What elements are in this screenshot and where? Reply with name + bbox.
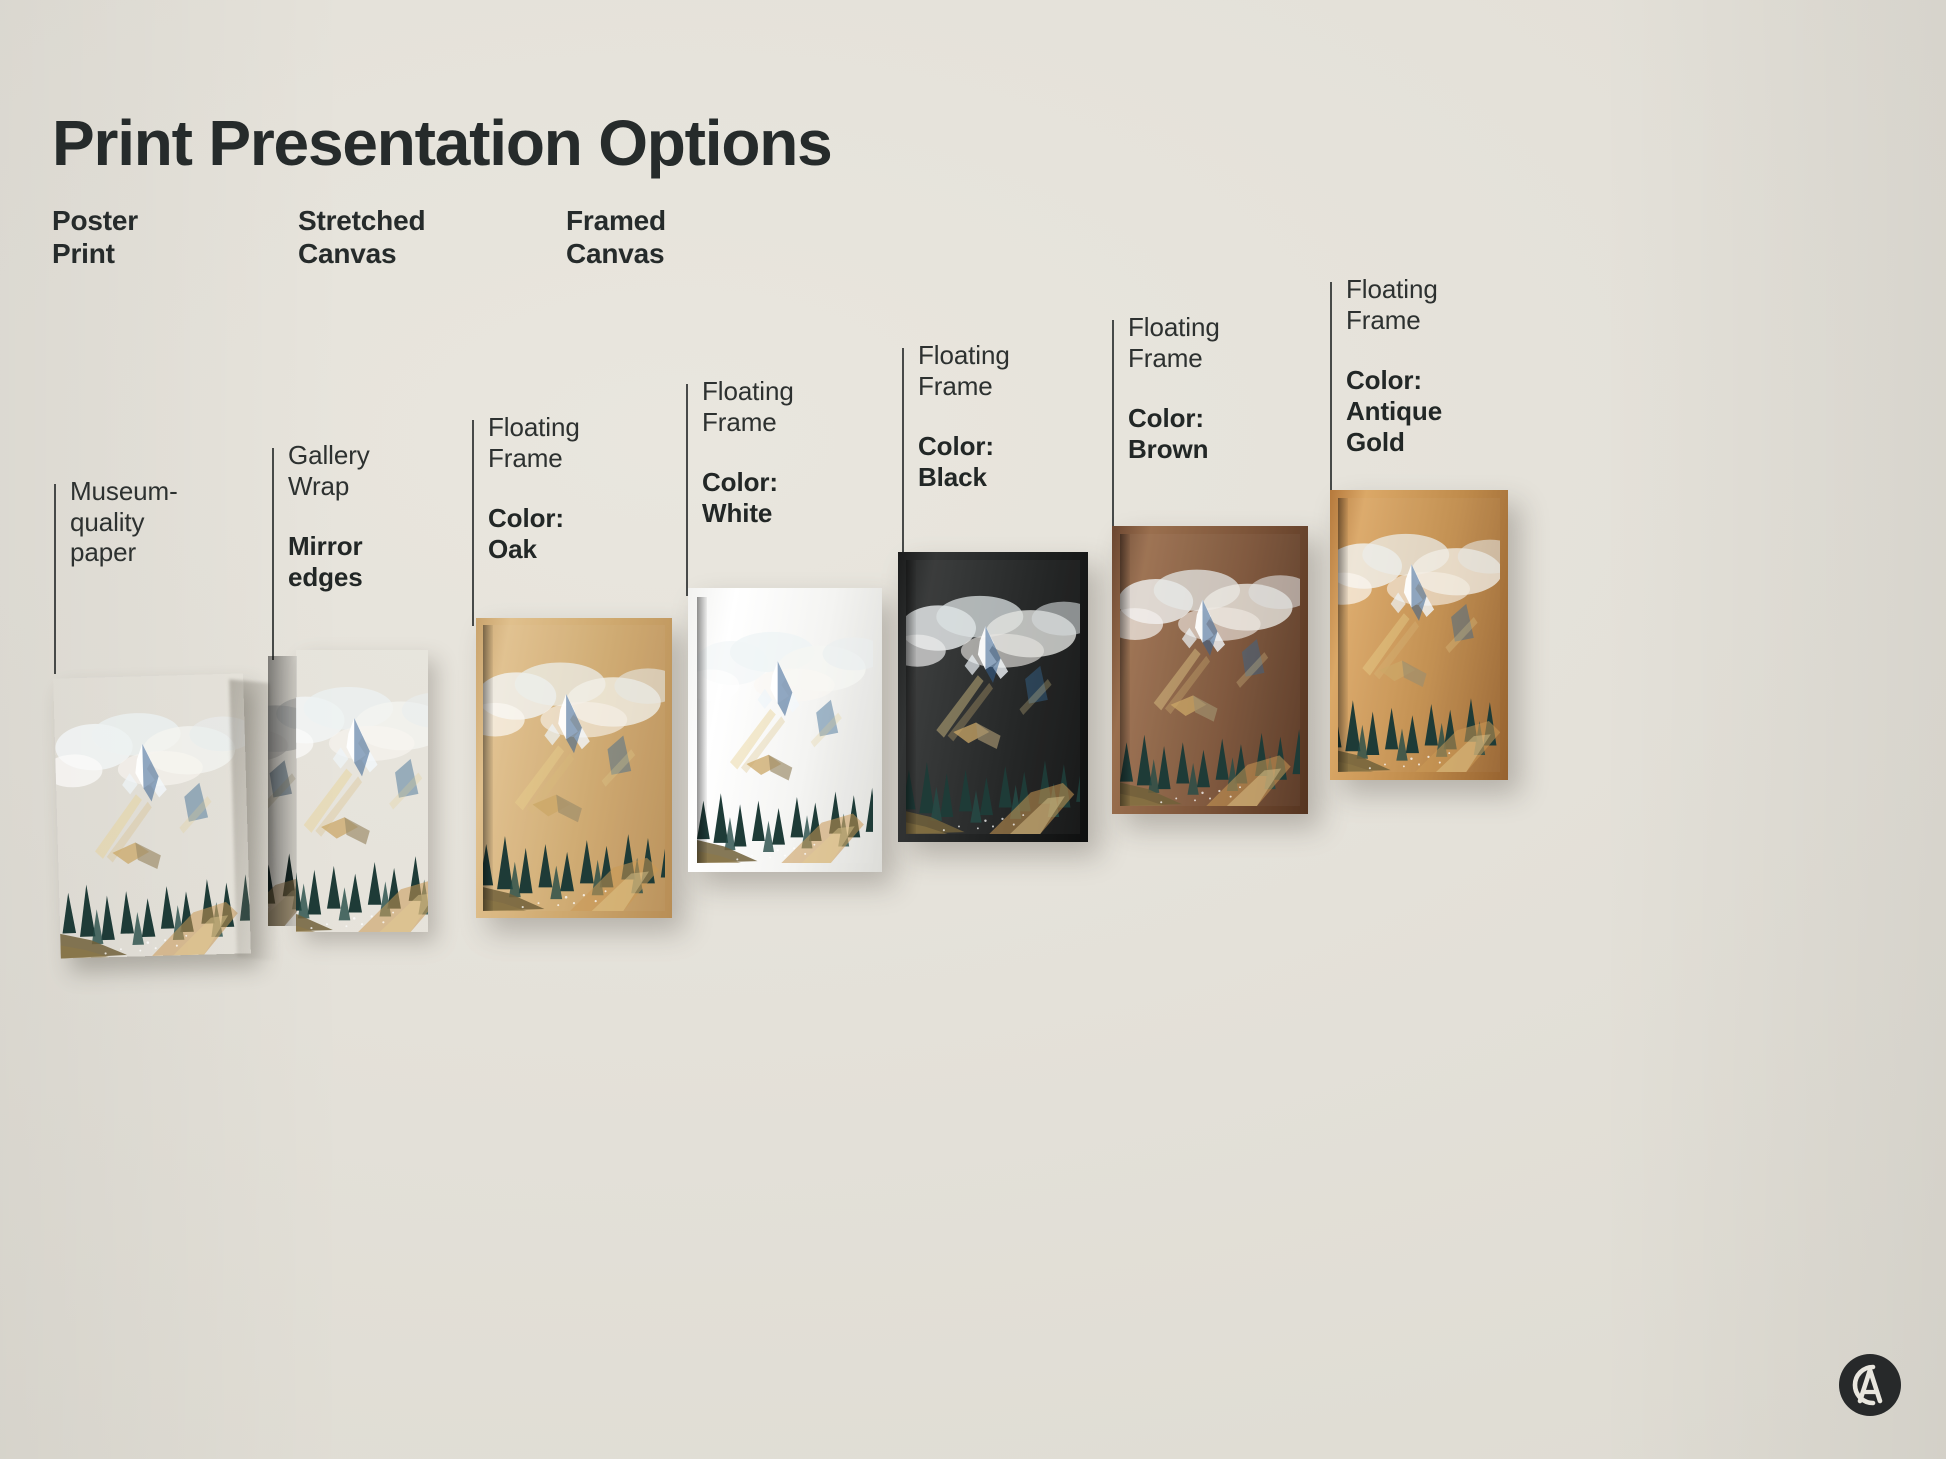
frame-depth-shadow bbox=[697, 597, 707, 863]
annotation-label: Museum-qualitypaper bbox=[70, 476, 270, 568]
page-title: Print Presentation Options bbox=[52, 106, 832, 180]
category-heading-framed-canvas: FramedCanvas bbox=[566, 205, 666, 271]
canvas-face bbox=[296, 650, 428, 932]
artwork-mountain-landscape bbox=[1338, 498, 1500, 772]
annotation-label: FloatingFrame bbox=[1346, 274, 1546, 335]
artwork-slot bbox=[483, 625, 665, 911]
frame-depth-shadow bbox=[906, 560, 916, 834]
artwork-slot bbox=[296, 650, 428, 932]
leader-line bbox=[902, 348, 904, 562]
artwork-slot bbox=[697, 597, 873, 863]
annotation-label: FloatingFrame bbox=[702, 376, 902, 437]
artwork-slot bbox=[1120, 534, 1300, 806]
annotation-detail: Color:Oak bbox=[488, 503, 688, 564]
product-framed-canvas-black[interactable] bbox=[898, 552, 1088, 842]
annotation-label: GalleryWrap bbox=[288, 440, 488, 501]
annotation-detail: Color:Brown bbox=[1128, 403, 1328, 464]
artwork-mountain-landscape bbox=[53, 673, 251, 958]
leader-line bbox=[686, 384, 688, 596]
frame-inner bbox=[906, 560, 1080, 834]
category-heading-poster-print: PosterPrint bbox=[52, 205, 138, 271]
artwork-slot bbox=[1338, 498, 1500, 772]
frame-inner bbox=[1120, 534, 1300, 806]
annotation-detail: Mirroredges bbox=[288, 531, 488, 592]
leader-line bbox=[1330, 282, 1332, 494]
artwork-mountain-landscape bbox=[483, 625, 665, 911]
brand-logo-icon bbox=[1838, 1353, 1902, 1417]
frame-inner bbox=[483, 625, 665, 911]
artwork-slot bbox=[906, 560, 1080, 834]
leader-line bbox=[272, 448, 274, 660]
product-stretched-canvas[interactable] bbox=[268, 650, 428, 932]
artwork-mountain-landscape bbox=[1120, 534, 1300, 806]
product-framed-canvas-brown[interactable] bbox=[1112, 526, 1308, 814]
annotation-detail: Color:Black bbox=[918, 431, 1118, 492]
annotation-detail: Color:White bbox=[702, 467, 902, 528]
product-poster-print[interactable] bbox=[53, 673, 251, 958]
annotation-label: FloatingFrame bbox=[488, 412, 688, 473]
artwork-mountain-landscape bbox=[697, 597, 873, 863]
artwork-slot bbox=[53, 673, 251, 958]
product-framed-canvas-oak[interactable] bbox=[476, 618, 672, 918]
leader-line bbox=[54, 484, 56, 674]
annotation-label: FloatingFrame bbox=[918, 340, 1118, 401]
artwork-slot bbox=[268, 656, 297, 926]
product-framed-canvas-antique-gold[interactable] bbox=[1330, 490, 1508, 780]
frame-depth-shadow bbox=[483, 625, 493, 911]
frame-depth-shadow bbox=[1120, 534, 1130, 806]
annotation-detail: Color:AntiqueGold bbox=[1346, 365, 1546, 457]
frame-depth-shadow bbox=[1338, 498, 1348, 772]
artwork-mountain-landscape bbox=[906, 560, 1080, 834]
leader-line bbox=[1112, 320, 1114, 534]
frame-inner bbox=[697, 597, 873, 863]
category-heading-stretched-canvas: StretchedCanvas bbox=[298, 205, 425, 271]
leader-line bbox=[472, 420, 474, 626]
product-framed-canvas-white[interactable] bbox=[688, 588, 882, 872]
artwork-mountain-landscape bbox=[296, 650, 428, 932]
annotation-label: FloatingFrame bbox=[1128, 312, 1328, 373]
artwork-mountain-landscape bbox=[268, 656, 297, 926]
frame-inner bbox=[1338, 498, 1500, 772]
canvas-mirror-edge bbox=[268, 656, 297, 926]
